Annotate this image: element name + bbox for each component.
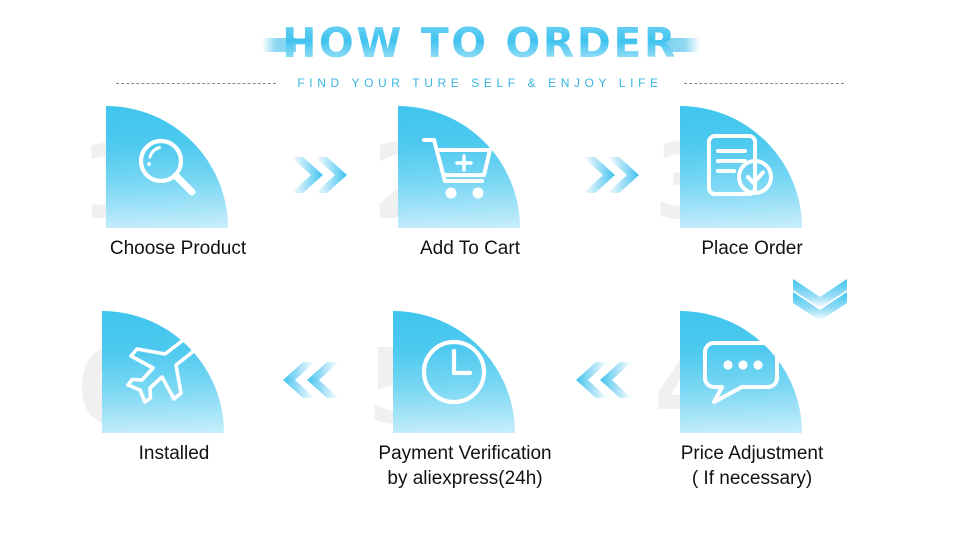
- step-4[interactable]: 4 Price Adjustment ( If necessary): [642, 305, 862, 505]
- step-5-label: Payment Verification by aliexpress(24h): [355, 441, 575, 491]
- step-4-label-line2: ( If necessary): [642, 466, 862, 491]
- step-1-badge: 1: [68, 100, 288, 228]
- step-6-label-line1: Installed: [139, 443, 210, 464]
- step-3-tile: [680, 106, 802, 228]
- step-3[interactable]: 3 Place Order: [642, 100, 862, 300]
- step-5-label-line2: by aliexpress(24h): [355, 466, 575, 491]
- step-3-badge: 3: [642, 100, 862, 228]
- step-4-tile: [680, 311, 802, 433]
- step-6-tile: [102, 311, 224, 433]
- page-title: HOW TO ORDER: [0, 20, 960, 66]
- steps-row-bottom: 6 Installed: [0, 305, 960, 505]
- infographic-canvas: HOW TO ORDER FIND YOUR TURE SELF & ENJOY…: [0, 0, 960, 535]
- airplane-icon: [102, 311, 224, 433]
- step-6-badge: 6: [64, 305, 284, 433]
- magnifier-icon: [106, 106, 228, 228]
- page-subtitle: FIND YOUR TURE SELF & ENJOY LIFE: [0, 76, 960, 90]
- step-5-tile: [393, 311, 515, 433]
- step-4-label: Price Adjustment ( If necessary): [642, 441, 862, 491]
- step-5[interactable]: 5 Payment Verification by aliexpress(24h…: [355, 305, 575, 505]
- chevron-left-4-to-5: [572, 358, 634, 402]
- step-1-tile: [106, 106, 228, 228]
- clock-icon: [393, 311, 515, 433]
- chevron-right-2-to-3: [581, 153, 643, 197]
- step-2-badge: 2: [360, 100, 580, 228]
- chevron-left-5-to-6: [279, 358, 341, 402]
- chevron-right-1-to-2: [289, 153, 351, 197]
- step-6[interactable]: 6 Installed: [64, 305, 284, 505]
- step-2-tile: [398, 106, 520, 228]
- step-2[interactable]: 2 Add To Cart: [360, 100, 580, 300]
- step-1[interactable]: 1 Choose Product: [68, 100, 288, 300]
- steps-row-top: 1 Choose Product: [0, 100, 960, 300]
- step-4-badge: 4: [642, 305, 862, 433]
- shopping-cart-plus-icon: [398, 106, 520, 228]
- document-check-icon: [680, 106, 802, 228]
- chat-bubble-icon: [680, 311, 802, 433]
- step-5-badge: 5: [355, 305, 575, 433]
- header: HOW TO ORDER FIND YOUR TURE SELF & ENJOY…: [0, 0, 960, 100]
